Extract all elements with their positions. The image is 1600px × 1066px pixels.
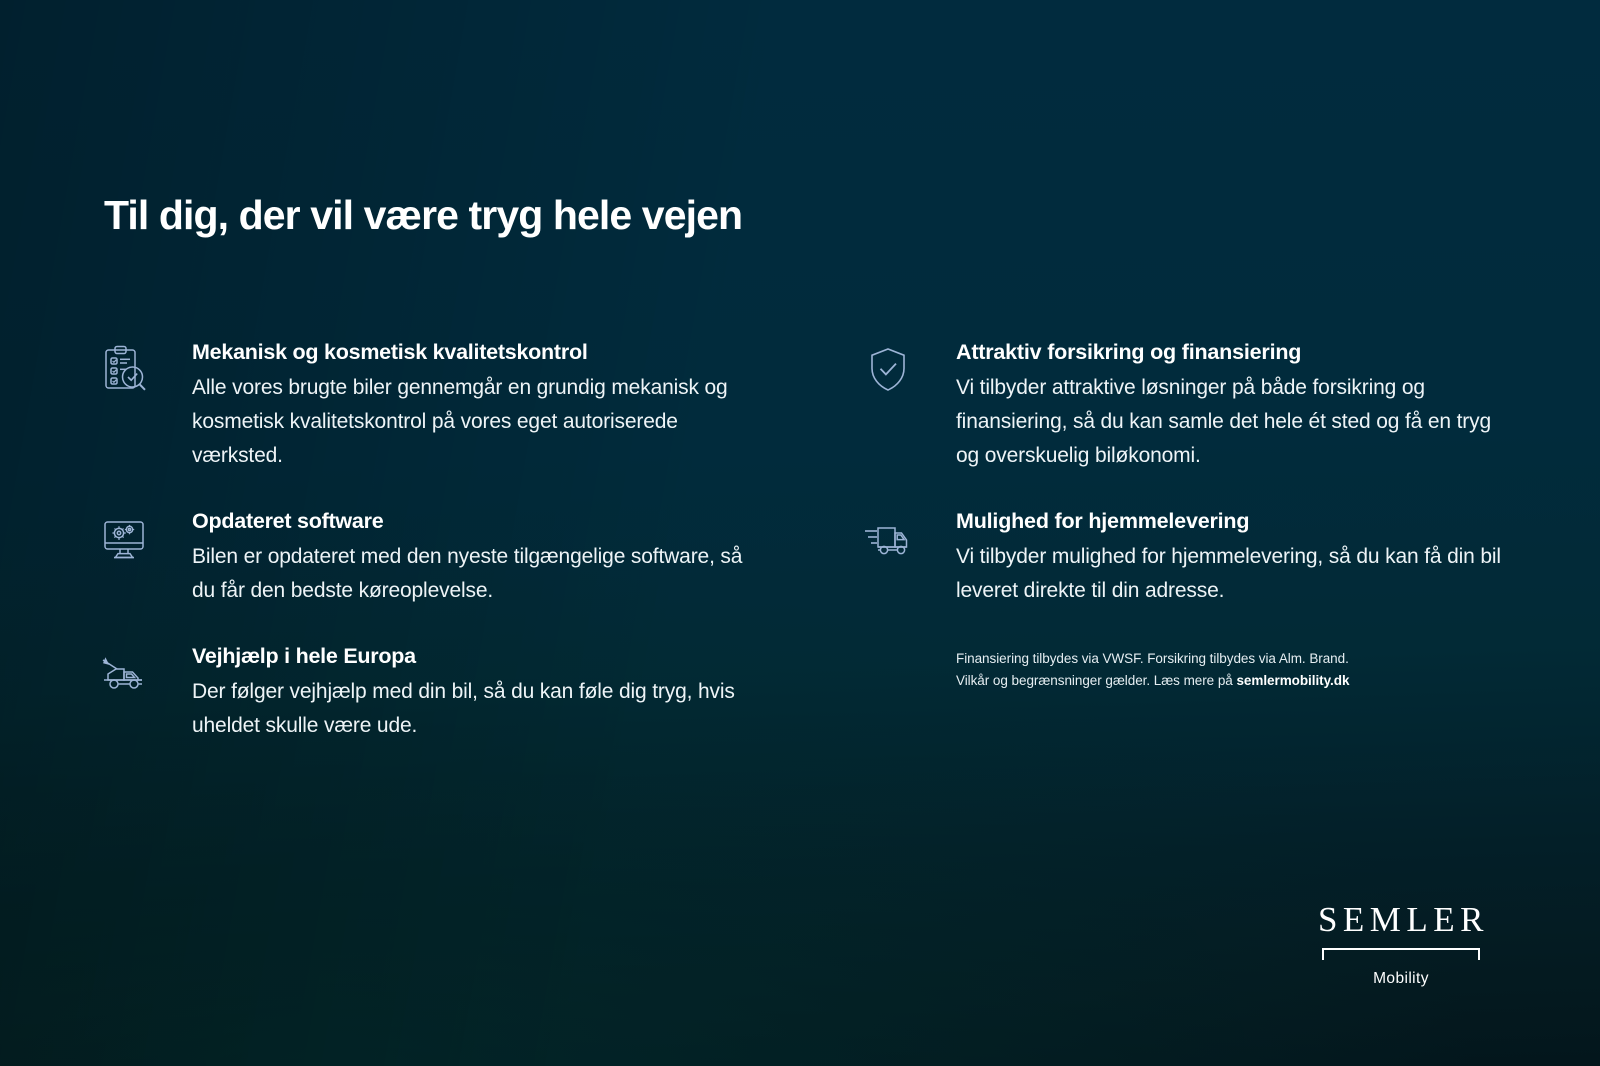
feature-description: Der følger vejhjælp med din bil, så du k…: [192, 675, 752, 743]
left-feature-column: Mekanisk og kosmetisk kvalitetskontrol A…: [96, 340, 752, 743]
logo-divider: [1322, 948, 1480, 961]
feature-description: Alle vores brugte biler gennemgår en gru…: [192, 371, 752, 473]
disclaimer-line-2-text: Vilkår og begrænsninger gælder. Læs mere…: [956, 673, 1236, 688]
feature-title: Mulighed for hjemmelevering: [956, 509, 1516, 534]
feature-description: Vi tilbyder attraktive løsninger på både…: [956, 371, 1516, 473]
feature-text: Opdateret software Bilen er opdateret me…: [192, 509, 752, 608]
feature-title: Mekanisk og kosmetisk kvalitetskontrol: [192, 340, 752, 365]
feature-description: Vi tilbyder mulighed for hjemmelevering,…: [956, 540, 1516, 608]
feature-text: Attraktiv forsikring og finansiering Vi …: [956, 340, 1516, 473]
logo-tick-right: [1478, 948, 1480, 960]
feature-title: Attraktiv forsikring og finansiering: [956, 340, 1516, 365]
disclaimer-line-1: Finansiering tilbydes via VWSF. Forsikri…: [956, 648, 1476, 670]
feature-columns: Mekanisk og kosmetisk kvalitetskontrol A…: [96, 340, 1516, 743]
logo-subtitle: Mobility: [1312, 970, 1490, 988]
shield-check-icon: [860, 340, 956, 473]
logo-wordmark: SEMLER: [1312, 902, 1490, 937]
monitor-gears-icon: [96, 509, 192, 608]
feature-text: Mekanisk og kosmetisk kvalitetskontrol A…: [192, 340, 752, 473]
feature-quality-control: Mekanisk og kosmetisk kvalitetskontrol A…: [96, 340, 752, 473]
tow-truck-icon: [96, 644, 192, 743]
page-title: Til dig, der vil være tryg hele vejen: [104, 192, 742, 239]
feature-roadside-assistance: Vejhjælp i hele Europa Der følger vejhjæ…: [96, 644, 752, 743]
disclaimer: Finansiering tilbydes via VWSF. Forsikri…: [956, 648, 1476, 692]
delivery-truck-icon: [860, 509, 956, 608]
feature-title: Vejhjælp i hele Europa: [192, 644, 752, 669]
disclaimer-line-2: Vilkår og begrænsninger gælder. Læs mere…: [956, 670, 1476, 692]
feature-title: Opdateret software: [192, 509, 752, 534]
disclaimer-link[interactable]: semlermobility.dk: [1236, 673, 1349, 688]
feature-home-delivery: Mulighed for hjemmelevering Vi tilbyder …: [860, 509, 1516, 608]
right-feature-column: Attraktiv forsikring og finansiering Vi …: [860, 340, 1516, 743]
feature-insurance-financing: Attraktiv forsikring og finansiering Vi …: [860, 340, 1516, 473]
promo-panel: Til dig, der vil være tryg hele vejen: [0, 0, 1600, 1066]
feature-text: Mulighed for hjemmelevering Vi tilbyder …: [956, 509, 1516, 608]
feature-text: Vejhjælp i hele Europa Der følger vejhjæ…: [192, 644, 752, 743]
semler-mobility-logo: SEMLER Mobility: [1312, 902, 1490, 988]
clipboard-check-magnifier-icon: [96, 340, 192, 473]
logo-tick-left: [1322, 948, 1324, 960]
feature-updated-software: Opdateret software Bilen er opdateret me…: [96, 509, 752, 608]
feature-description: Bilen er opdateret med den nyeste tilgæn…: [192, 540, 752, 608]
